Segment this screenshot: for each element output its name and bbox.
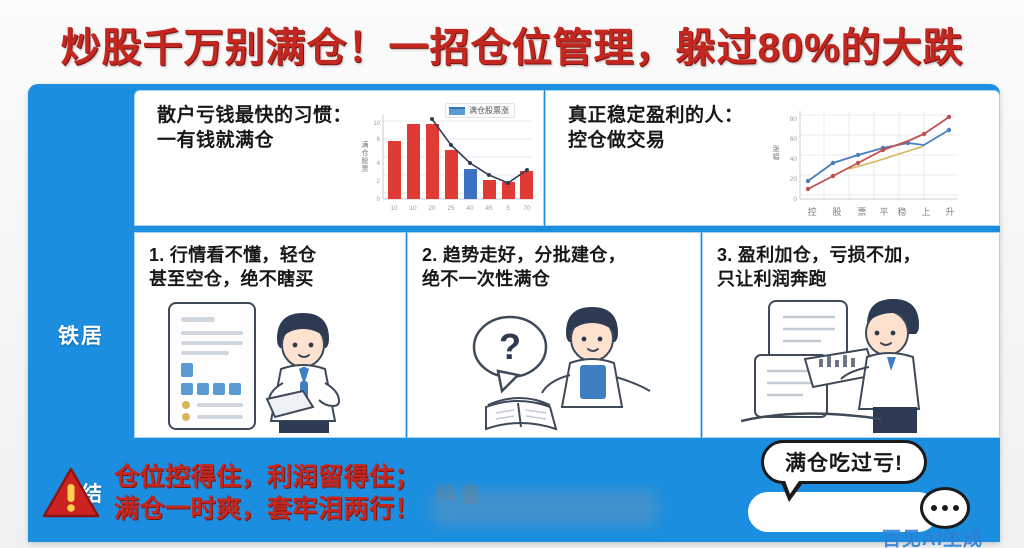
svg-text:4: 4 bbox=[377, 161, 381, 167]
watermark-bottom-text: 百见AI生成 bbox=[882, 524, 983, 548]
chat-dots-icon bbox=[920, 487, 970, 529]
sidebar-label-rules: 铁居 bbox=[58, 320, 104, 350]
row-comparison: 散户亏钱最快的习惯： 一有钱就满仓 满仓股票涨 满仓股票 bbox=[28, 90, 1000, 226]
svg-text:升: 升 bbox=[945, 207, 954, 217]
svg-text:稳: 稳 bbox=[897, 206, 906, 217]
bar-chart-full-position: 满仓股票涨 满仓股票 bbox=[357, 105, 537, 217]
bad-habit-heading: 散户亏钱最快的习惯： 一有钱就满仓 bbox=[157, 103, 352, 153]
svg-text:上: 上 bbox=[921, 207, 930, 217]
line-chart-position-control: 涨幅 bbox=[766, 101, 966, 221]
rule-card-1: 1. 行情看不懂，轻仓 甚至空仓，绝不瞎买 bbox=[134, 232, 406, 438]
svg-text:25: 25 bbox=[447, 205, 455, 212]
rule-text-1: 1. 行情看不懂，轻仓 甚至空仓，绝不瞎买 bbox=[149, 243, 397, 292]
rule-card-3: 3. 盈利加仓，亏损不加， 只让利润奔跑 bbox=[702, 232, 1000, 438]
svg-text:票: 票 bbox=[857, 207, 866, 217]
speech-bubble-text: 满仓吃过亏! bbox=[785, 447, 903, 477]
svg-text:2: 2 bbox=[377, 179, 381, 185]
line-chart-svg: 020 4060 80 控股 票平 稳上 升 bbox=[766, 101, 966, 221]
person-with-question-book-icon: ? bbox=[452, 297, 658, 433]
speech-bubble-tail-inner bbox=[784, 478, 801, 494]
row-rules: 铁居 1. 行情看不懂，轻仓 甚至空仓，绝不瞎买 bbox=[28, 232, 1000, 438]
svg-text:45: 45 bbox=[485, 205, 493, 212]
person-with-report-icon bbox=[741, 291, 955, 433]
bar-chart-svg: 02 46 10 1010 2025 4045 570 bbox=[357, 105, 537, 217]
svg-text:10: 10 bbox=[373, 121, 380, 127]
svg-text:6: 6 bbox=[377, 137, 381, 143]
sidebar-item-rules: 铁居 bbox=[28, 232, 134, 438]
poster-title-bar: 炒股千万别满仓！一招仓位管理，躲过80%的大跌 bbox=[0, 14, 1024, 74]
person-with-checklist-icon bbox=[159, 295, 377, 433]
svg-text:40: 40 bbox=[790, 156, 798, 163]
svg-text:70: 70 bbox=[523, 205, 531, 212]
svg-text:?: ? bbox=[499, 326, 521, 367]
bar-chart-legend: 满仓股票涨 bbox=[445, 103, 515, 118]
svg-text:控: 控 bbox=[807, 206, 816, 217]
watermark-center-text: 抖音 bbox=[436, 478, 484, 507]
svg-text:40: 40 bbox=[466, 205, 474, 212]
svg-text:股: 股 bbox=[832, 207, 841, 217]
svg-text:20: 20 bbox=[428, 205, 436, 212]
bar-chart-ylabel: 满仓股票 bbox=[359, 141, 369, 173]
line-chart-ylabel: 涨幅 bbox=[770, 145, 780, 161]
svg-text:10: 10 bbox=[409, 205, 417, 212]
svg-text:5: 5 bbox=[506, 205, 510, 212]
legend-swatch-icon bbox=[449, 107, 465, 115]
panel-good-habit: 真正稳定盈利的人： 控仓做交易 涨幅 bbox=[545, 90, 1000, 226]
svg-text:60: 60 bbox=[790, 136, 798, 143]
svg-text:0: 0 bbox=[377, 197, 381, 203]
panel-bad-habit: 散户亏钱最快的习惯： 一有钱就满仓 满仓股票涨 满仓股票 bbox=[134, 90, 544, 226]
poster-root: 炒股千万别满仓！一招仓位管理，躲过80%的大跌 散户亏钱最快的习惯： 一有钱就满… bbox=[0, 0, 1024, 548]
rule-text-2: 2. 趋势走好，分批建仓， 绝不一次性满仓 bbox=[422, 243, 692, 292]
rule-card-2: 2. 趋势走好，分批建仓， 绝不一次性满仓 ? bbox=[407, 232, 701, 438]
dot-3 bbox=[953, 505, 959, 511]
rule-text-3: 3. 盈利加仓，亏损不加， 只让利润奔跑 bbox=[717, 243, 991, 292]
legend-label: 满仓股票涨 bbox=[469, 105, 509, 116]
good-habit-heading: 真正稳定盈利的人： 控仓做交易 bbox=[568, 103, 744, 153]
svg-text:80: 80 bbox=[790, 116, 798, 123]
svg-text:平: 平 bbox=[879, 207, 888, 217]
warning-triangle-icon bbox=[42, 466, 100, 520]
svg-text:10: 10 bbox=[390, 205, 398, 212]
svg-text:0: 0 bbox=[793, 196, 797, 203]
page-title: 炒股千万别满仓！一招仓位管理，躲过80%的大跌 bbox=[60, 15, 963, 73]
dot-1 bbox=[931, 505, 937, 511]
summary-text: 仓位控得住，利润留得住； 满仓一时爽，套牢泪两行！ bbox=[114, 461, 420, 526]
dot-2 bbox=[942, 505, 948, 511]
svg-text:20: 20 bbox=[790, 176, 798, 183]
